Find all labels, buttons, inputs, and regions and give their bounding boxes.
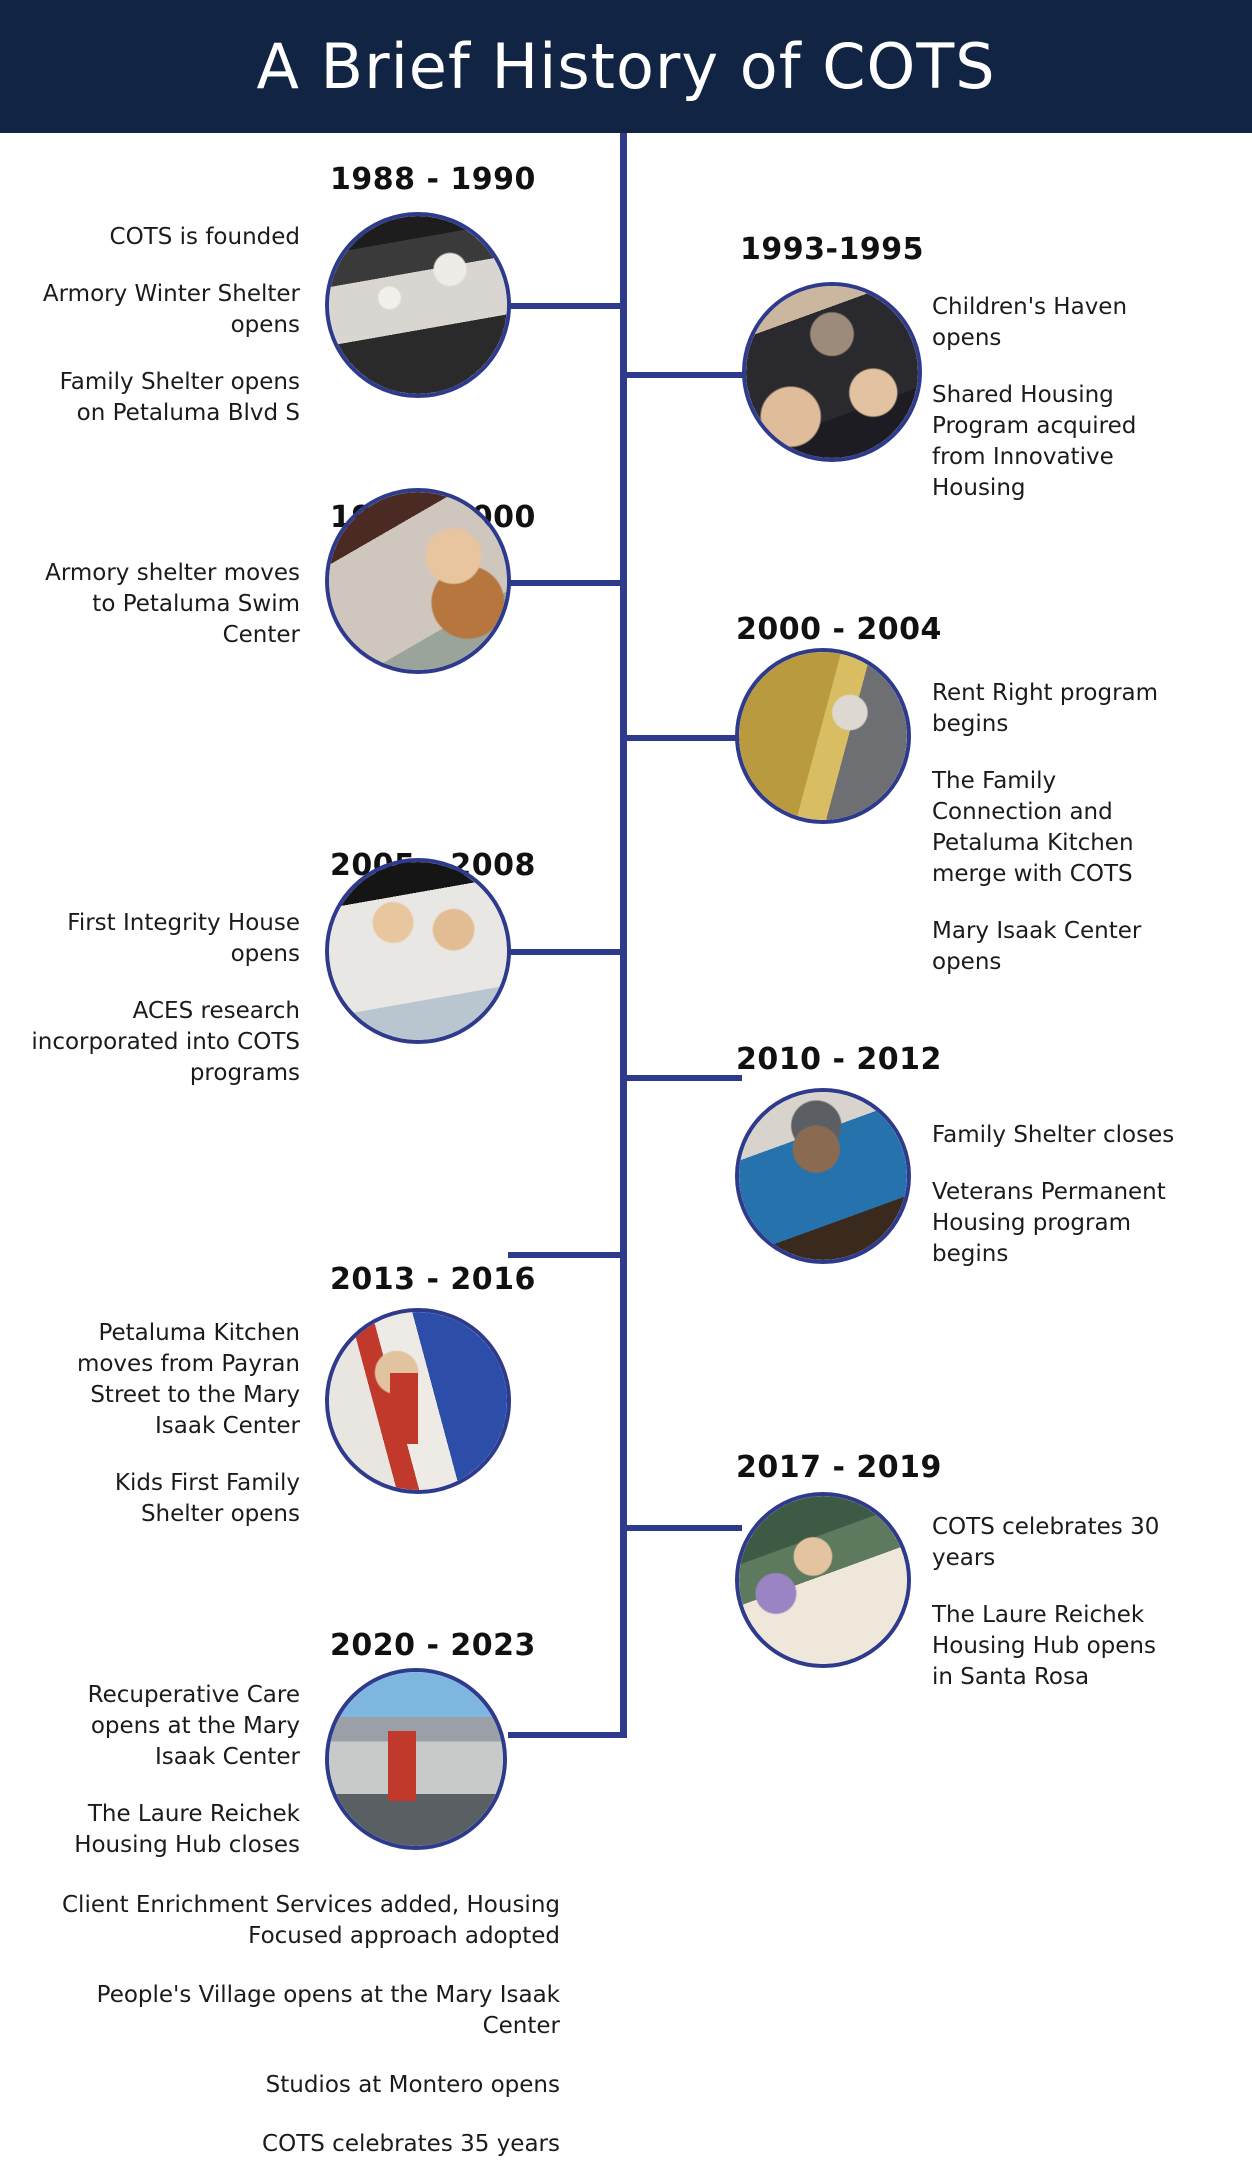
era-event: Children's Haven opens <box>932 292 1168 354</box>
connector-1993-1995 <box>624 372 744 378</box>
trailing-event: People's Village opens at the Mary Isaak… <box>40 1980 560 2042</box>
era-event: Veterans Permanent Housing program begin… <box>932 1177 1208 1270</box>
connector-2017-2019 <box>624 1525 742 1531</box>
era-events-list: Recuperative Care opens at the Mary Isaa… <box>30 1680 300 1861</box>
era-event: The Family Connection and Petaluma Kitch… <box>932 766 1182 890</box>
era-event: First Integrity House opens <box>30 908 300 970</box>
era-event: Shared Housing Program acquired from Inn… <box>932 380 1168 504</box>
connector-1998-2000 <box>508 580 624 586</box>
era-year-label: 2010 - 2012 <box>736 1042 942 1077</box>
trailing-event: Studios at Montero opens <box>40 2070 560 2101</box>
era-events-list: Rent Right program begins The Family Con… <box>932 678 1182 978</box>
era-event: Recuperative Care opens at the Mary Isaa… <box>30 1680 300 1773</box>
era-year-label: 1993-1995 <box>740 232 924 267</box>
photo-2010-2012-veteran-with-laptop <box>735 1088 911 1264</box>
era-event: The Laure Reichek Housing Hub opens in S… <box>932 1600 1184 1693</box>
photo-1988-1990-cots-founders <box>325 212 511 398</box>
era-event: Armory Winter Shelter opens <box>30 279 300 341</box>
era-events-list: Armory shelter moves to Petaluma Swim Ce… <box>30 558 300 651</box>
page-title: A Brief History of COTS <box>0 0 1252 133</box>
trailing-event: Client Enrichment Services added, Housin… <box>40 1890 560 1952</box>
connector-2000-2004 <box>624 735 742 741</box>
photo-1993-1995-mother-with-children <box>742 282 922 462</box>
era-events-list: Children's Haven opens Shared Housing Pr… <box>932 292 1168 504</box>
era-events-list: COTS is founded Armory Winter Shelter op… <box>30 222 300 429</box>
era-events-list: First Integrity House opens ACES researc… <box>30 908 300 1089</box>
era-event: COTS is founded <box>30 222 300 253</box>
era-year-label: 1988 - 1990 <box>330 162 536 197</box>
era-year-label: 2020 - 2023 <box>330 1628 536 1663</box>
infographic-page: A Brief History of COTS 1988 - 1990 COTS… <box>0 0 1252 2160</box>
era-event: Rent Right program begins <box>932 678 1182 740</box>
connector-1988-1990 <box>508 303 624 309</box>
trailing-events-list: Client Enrichment Services added, Housin… <box>40 1890 560 2160</box>
connector-2020-2023 <box>508 1732 624 1738</box>
photo-2013-2016-kitchen-volunteer-serving-food <box>325 1308 511 1494</box>
trailing-event: COTS celebrates 35 years <box>40 2129 560 2160</box>
era-event: Mary Isaak Center opens <box>932 916 1182 978</box>
era-events-list: COTS celebrates 30 years The Laure Reich… <box>932 1512 1184 1693</box>
connector-2013-2016 <box>508 1252 624 1258</box>
photo-2005-2008-two-staff-with-papers <box>325 858 511 1044</box>
era-event: Family Shelter opens on Petaluma Blvd S <box>30 367 300 429</box>
era-event: Kids First Family Shelter opens <box>30 1468 300 1530</box>
photo-2000-2004-mary-isaak-center-sign <box>735 648 911 824</box>
era-event: Armory shelter moves to Petaluma Swim Ce… <box>30 558 300 651</box>
era-event: The Laure Reichek Housing Hub closes <box>30 1799 300 1861</box>
era-event: Petaluma Kitchen moves from Payran Stree… <box>30 1318 300 1442</box>
photo-2020-2023-tiny-homes-village <box>325 1668 507 1850</box>
era-event: COTS celebrates 30 years <box>932 1512 1184 1574</box>
era-year-label: 2017 - 2019 <box>736 1450 942 1485</box>
era-events-list: Petaluma Kitchen moves from Payran Stree… <box>30 1318 300 1530</box>
era-year-label: 2000 - 2004 <box>736 612 942 647</box>
connector-2010-2012 <box>624 1075 742 1081</box>
era-events-list: Family Shelter closes Veterans Permanent… <box>932 1120 1208 1270</box>
connector-2005-2008 <box>508 949 624 955</box>
era-year-label: 2013 - 2016 <box>330 1262 536 1297</box>
era-event: Family Shelter closes <box>932 1120 1208 1151</box>
photo-1998-2000-woman-at-shelter <box>325 488 511 674</box>
photo-2017-2019-woman-speaking-at-microphone <box>735 1492 911 1668</box>
era-event: ACES research incorporated into COTS pro… <box>30 996 300 1089</box>
